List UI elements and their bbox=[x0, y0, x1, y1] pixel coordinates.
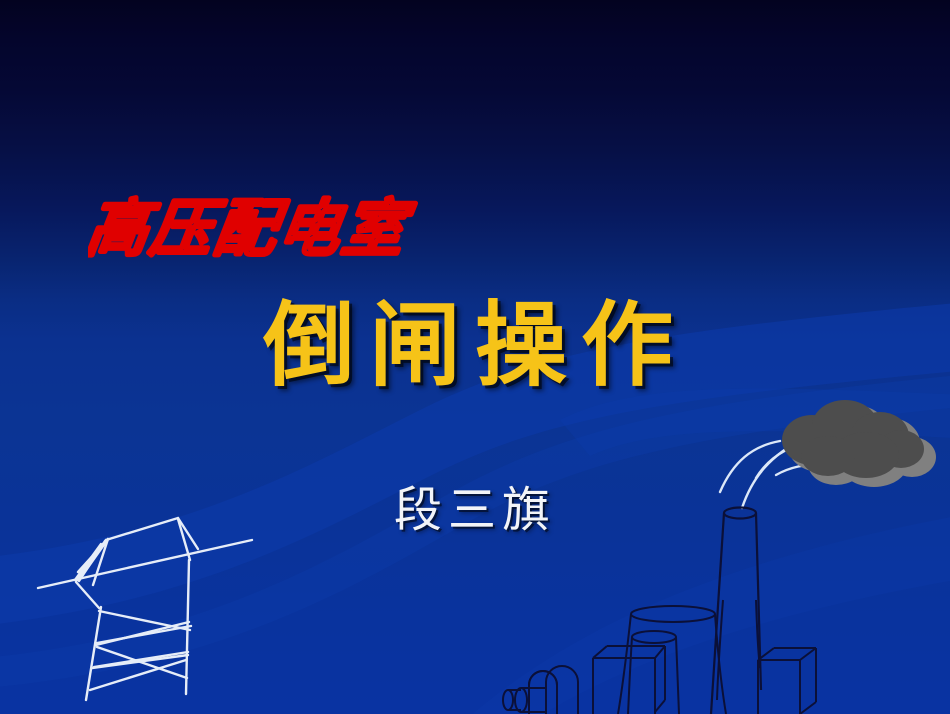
building-box-right bbox=[758, 648, 816, 714]
building-box-left bbox=[593, 646, 665, 714]
author-name: 段三旗 bbox=[0, 470, 950, 540]
industrial-buildings bbox=[503, 600, 816, 714]
ribbon-curve-4 bbox=[470, 510, 950, 714]
page-title: 倒闸操作 bbox=[0, 296, 950, 395]
pipe-a bbox=[717, 600, 723, 700]
title-slide: 高压配电室 倒闸操作 段三旗 bbox=[0, 0, 950, 714]
cooling-tower-large bbox=[618, 606, 726, 714]
tank-cylinder bbox=[503, 688, 545, 712]
transmission-tower bbox=[38, 518, 252, 700]
arch-hut-a bbox=[529, 671, 557, 714]
red-subject-heading: 高压配电室 bbox=[88, 176, 488, 276]
arch-hut-b bbox=[546, 666, 578, 714]
pipe-b bbox=[756, 600, 760, 668]
red-subject-text: 高压配电室 bbox=[88, 192, 418, 265]
cooling-tower-small bbox=[628, 631, 679, 714]
